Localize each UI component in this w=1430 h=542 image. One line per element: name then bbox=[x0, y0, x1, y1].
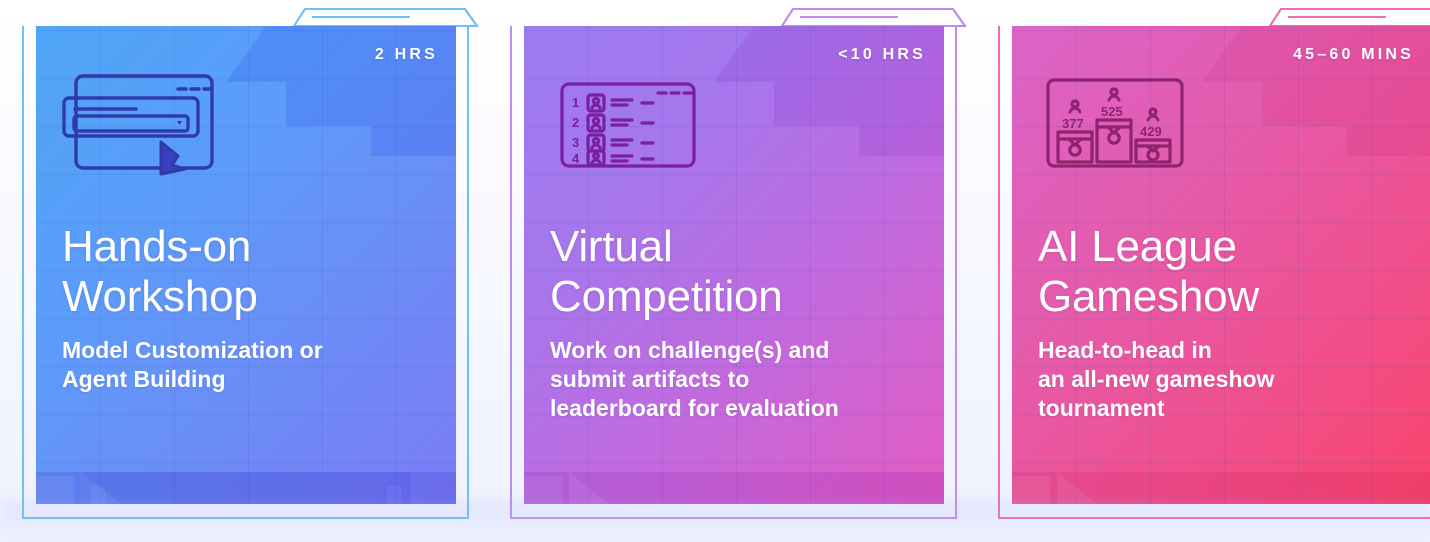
duration-badge: 45–60 MINS bbox=[1293, 46, 1414, 64]
bottom-base-band bbox=[524, 458, 944, 504]
card-panel: 2 HRS Hands-on Workshop Model Customizat… bbox=[36, 26, 456, 504]
duration-badge: <10 HRS bbox=[838, 46, 926, 64]
card-text-block: Virtual Competition Work on challenge(s)… bbox=[550, 222, 928, 423]
podium-scoreboard-icon: 377 525 429 bbox=[1036, 70, 1236, 180]
card-panel: 45–60 MINS 377 525 bbox=[1012, 26, 1430, 504]
card-subtitle: Head-to-head in an all-new gameshow tour… bbox=[1038, 336, 1416, 423]
card-title: Hands-on Workshop bbox=[62, 222, 440, 322]
svg-text:1: 1 bbox=[572, 95, 579, 110]
card-text-block: AI League Gameshow Head-to-head in an al… bbox=[1038, 222, 1416, 423]
svg-text:377: 377 bbox=[1062, 116, 1084, 131]
svg-text:3: 3 bbox=[572, 135, 579, 150]
card-subtitle: Model Customization or Agent Building bbox=[62, 336, 440, 394]
card-subtitle: Work on challenge(s) and submit artifact… bbox=[550, 336, 928, 423]
leaderboard-list-icon: 1 2 3 bbox=[548, 70, 748, 180]
svg-text:525: 525 bbox=[1101, 104, 1123, 119]
card-virtual-competition[interactable]: <10 HRS 1 2 bbox=[510, 0, 966, 525]
card-ai-league-gameshow[interactable]: 45–60 MINS 377 525 bbox=[998, 0, 1430, 525]
bottom-base-band bbox=[1012, 458, 1430, 504]
svg-text:4: 4 bbox=[572, 151, 580, 166]
card-panel: <10 HRS 1 2 bbox=[524, 26, 944, 504]
card-title: AI League Gameshow bbox=[1038, 222, 1416, 322]
duration-badge: 2 HRS bbox=[375, 46, 438, 64]
svg-text:2: 2 bbox=[572, 115, 579, 130]
svg-text:429: 429 bbox=[1140, 124, 1162, 139]
card-deck: 2 HRS Hands-on Workshop Model Customizat… bbox=[0, 0, 1430, 542]
card-hands-on-workshop[interactable]: 2 HRS Hands-on Workshop Model Customizat… bbox=[22, 0, 478, 525]
browser-window-cursor-icon bbox=[60, 70, 260, 180]
card-text-block: Hands-on Workshop Model Customization or… bbox=[62, 222, 440, 394]
card-title: Virtual Competition bbox=[550, 222, 928, 322]
bottom-base-band bbox=[36, 458, 456, 504]
